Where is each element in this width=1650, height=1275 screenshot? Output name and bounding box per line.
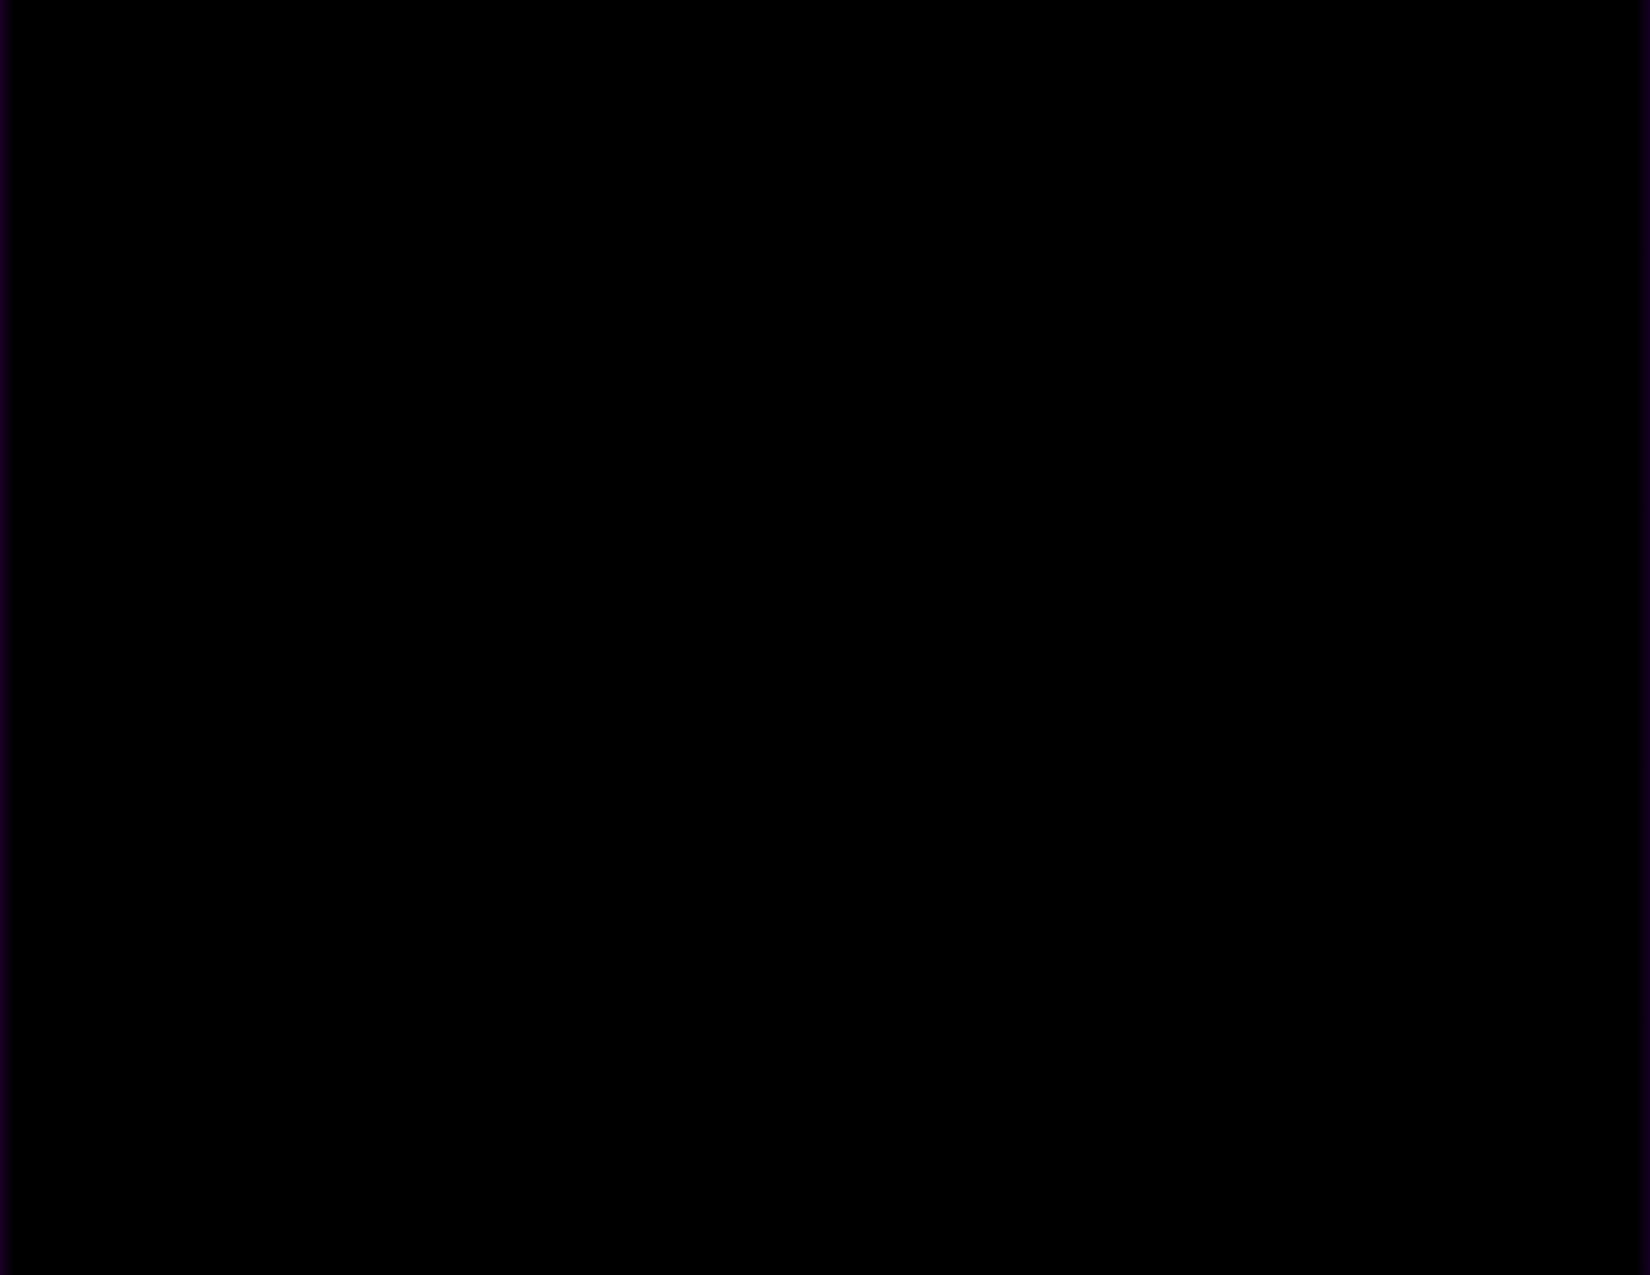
- verse-text-block: 'Is it not laid up in store with Me, Sea…: [85, 122, 1565, 376]
- attribution-reference: 32:34: [1091, 298, 1250, 368]
- registered-trademark-icon: ®: [1465, 299, 1493, 341]
- attribution-translation-open: (NASB: [1267, 298, 1465, 368]
- attribution-spacer-3: [1250, 298, 1267, 368]
- background-lower-left-shadow: [10, 560, 988, 1232]
- top-glow-banner: [10, 10, 1640, 102]
- attribution-spacer: [655, 298, 672, 368]
- attribution-translation-close: ): [1492, 298, 1513, 368]
- banner-cyan-line-top: [56, 16, 1602, 25]
- banner-cyan-streak: [130, 65, 1340, 81]
- attribution-em-dash: —: [593, 298, 656, 368]
- attribution-spacer-2: [1074, 298, 1091, 368]
- background-left-edge-shadow: [10, 10, 48, 1232]
- banner-cyan-line-bottom: [46, 86, 1612, 97]
- slide-background: 'Is it not laid up in store with Me, Sea…: [10, 10, 1640, 1232]
- verse-line-2: up in My treasuries?: [85, 204, 1565, 286]
- verse-line-1: 'Is it not laid up in store with Me, Sea…: [85, 122, 1565, 204]
- slide-canvas: 'Is it not laid up in store with Me, Sea…: [0, 0, 1650, 1275]
- attribution-book: Deuteronomy: [672, 298, 1074, 368]
- verse-attribution: — Deuteronomy 32:34 (NASB®): [85, 290, 1565, 376]
